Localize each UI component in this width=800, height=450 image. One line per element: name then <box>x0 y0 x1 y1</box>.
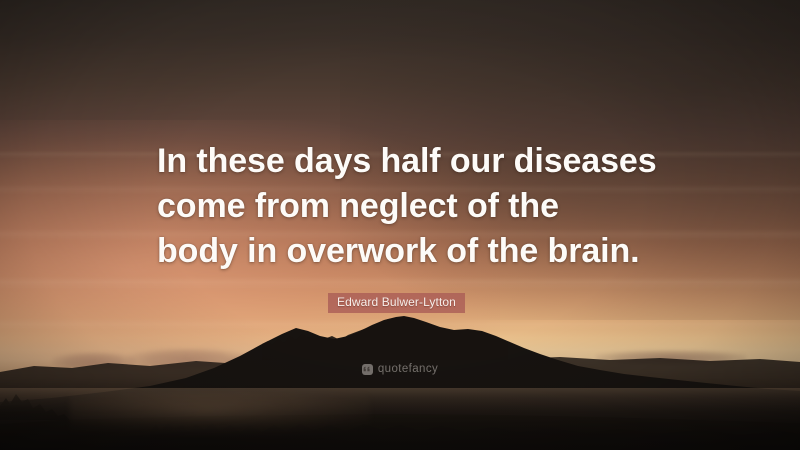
author-badge[interactable]: Edward Bulwer-Lytton <box>328 293 465 313</box>
quote-line-2: come from neglect of the <box>157 184 657 229</box>
quote-text: In these days half our diseases come fro… <box>157 139 657 274</box>
quote-poster: In these days half our diseases come fro… <box>0 0 800 450</box>
quote-line-3: body in overwork of the brain. <box>157 229 657 274</box>
quote-line-1: In these days half our diseases <box>157 139 657 184</box>
